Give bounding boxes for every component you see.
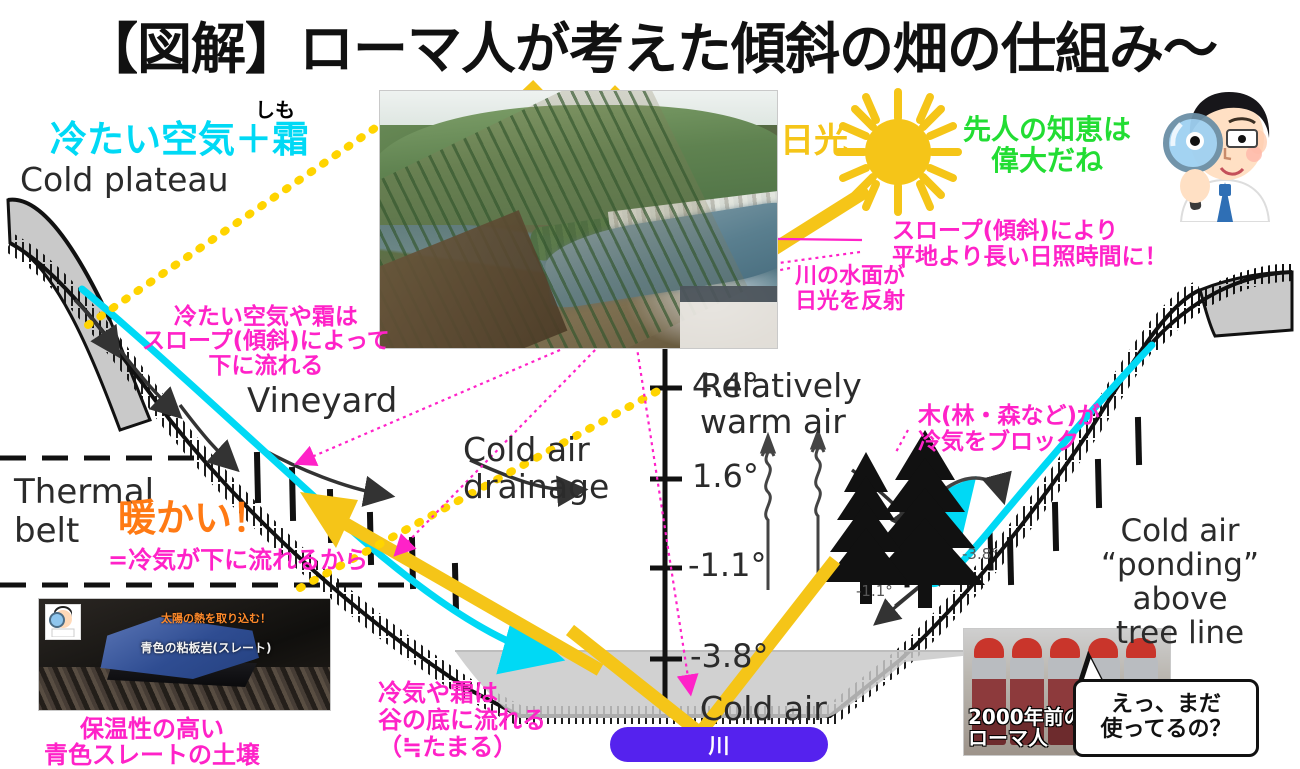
axis-tick-minus-3-8: -3.8° bbox=[690, 640, 768, 674]
cold-air-label: Cold air bbox=[700, 692, 827, 727]
wisdom-comment: 先人の知恵は 偉大だね bbox=[963, 115, 1131, 177]
warm-reason-note: =冷気が下に流れるから bbox=[108, 548, 368, 573]
tree-temp-annotation-minus-1-1: -1.1° bbox=[856, 584, 893, 600]
river-label: 川 bbox=[610, 727, 828, 762]
slate-photo-caption-mid: 青色の粘板岩(スレート) bbox=[101, 639, 311, 656]
mini-avatar-icon bbox=[45, 604, 81, 640]
cold-air-drainage-label: Cold air drainage bbox=[463, 432, 609, 506]
scientist-avatar bbox=[1155, 86, 1295, 222]
tree-block-loop-arrow bbox=[915, 478, 1002, 596]
right-plateau-terrain bbox=[1150, 272, 1292, 345]
cold-air-slope-note: 冷たい空気や霜は スロープ(傾斜)によって 下に流れる bbox=[142, 305, 390, 378]
warm-label: 暖かい！ bbox=[118, 498, 270, 538]
slope-sunlight-note: スロープ(傾斜)により 平地より長い日照時間に！ bbox=[892, 218, 1168, 271]
axis-tick-1-6: 1.6° bbox=[692, 460, 759, 494]
warm-air-squiggles bbox=[762, 432, 824, 590]
vine-posts bbox=[257, 455, 456, 610]
valley-cold-note: 冷気や霜は 谷の底に流れる （≒たまる） bbox=[378, 680, 546, 761]
sunlight-label: 日光 bbox=[780, 123, 848, 159]
vineyard-slope-photo bbox=[379, 90, 778, 349]
slate-photo-caption-top: 太陽の熱を取り込む！ bbox=[121, 610, 311, 626]
sunlight-arrowheads bbox=[300, 492, 358, 548]
infographic-canvas: 【図解】ローマ人が考えた傾斜の畑の仕組み〜 bbox=[0, 0, 1300, 769]
blue-slate-soil-photo: 太陽の熱を取り込む！ 青色の粘板岩(スレート) bbox=[38, 598, 331, 711]
sun-icon bbox=[838, 92, 958, 212]
cold-air-ponding-label: Cold air “ponding” above tree line bbox=[1101, 514, 1259, 650]
cold-plateau-label: Cold plateau bbox=[20, 163, 229, 198]
tree-temp-annotation-minus-3-8: -3.8° bbox=[962, 547, 999, 563]
cold-air-frost-label: 冷たい空気＋霜 bbox=[50, 120, 309, 159]
vineyard-label: Vineyard bbox=[247, 384, 397, 420]
romans-speech-balloon: えっ、まだ 使ってるの？ bbox=[1073, 679, 1259, 757]
avatar-hand bbox=[1180, 169, 1210, 203]
left-plateau-terrain bbox=[8, 200, 150, 430]
river-reflection-note: 川の水面が 日光を反射 bbox=[795, 265, 905, 314]
axis-tick-minus-1-1: -1.1° bbox=[688, 549, 766, 583]
tree-block-note: 木(林・森など)が 冷気をブロック bbox=[918, 404, 1100, 456]
temperature-axis bbox=[650, 330, 682, 700]
page-title: 【図解】ローマ人が考えた傾斜の畑の仕組み〜 bbox=[0, 4, 1300, 84]
axis-tick-4-4: 4.4° bbox=[692, 369, 759, 403]
slate-soil-caption: 保温性の高い 青色スレートの土壌 bbox=[44, 716, 260, 769]
